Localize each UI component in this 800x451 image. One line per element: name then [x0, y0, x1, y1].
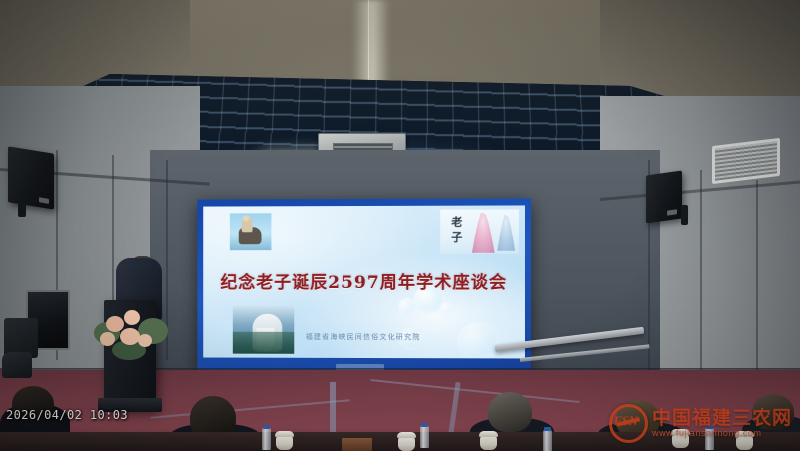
- water-bottle-cap-3: [544, 427, 551, 431]
- slide-subtitle: 福建省海峡民间信俗文化研究院: [203, 332, 525, 343]
- flower-bloom-2: [124, 310, 140, 325]
- flower-bloom-1: [106, 316, 124, 332]
- water-bottle-3: [543, 430, 552, 451]
- calligraphy-text: 老子: [449, 215, 464, 245]
- wall-speaker-right: [646, 170, 682, 223]
- slide-image-laozi-riding-ox: [230, 213, 272, 250]
- fsn-logo-icon: FSN: [609, 404, 648, 443]
- teacup-lid-2: [397, 432, 416, 438]
- watermark-texts: 中国福建三农网 www.fujiansannong.com: [652, 409, 792, 438]
- water-bottle-1: [262, 428, 271, 450]
- watermark: FSN 中国福建三农网 www.fujiansannong.com: [609, 404, 792, 443]
- ceiling-soffit-left: [0, 0, 190, 86]
- wall-seam-r2: [700, 170, 702, 375]
- speaker-brand-badge: [39, 197, 49, 204]
- timestamp-overlay: 2026/04/02 10:03: [6, 408, 128, 422]
- wall-speaker-left: [8, 146, 54, 209]
- wall-seam-r3: [756, 180, 758, 380]
- laozi-head-shape: [243, 215, 250, 221]
- flower-bloom-5: [138, 334, 152, 347]
- slide-bubble-2: [398, 298, 416, 316]
- water-bottle-2: [420, 426, 429, 448]
- water-bottle-cap-2: [421, 423, 428, 427]
- speaker-bracket-right: [681, 205, 688, 225]
- figure-pink-robe: [470, 213, 495, 253]
- watermark-site-url: www.fujiansannong.com: [652, 429, 792, 438]
- slide-image-calligraphy-panel: 老子: [440, 209, 519, 253]
- teacup-1: [276, 436, 293, 450]
- speaker-brand-badge-right: [667, 209, 677, 215]
- slide-bubble-3: [440, 302, 453, 315]
- podium-flower-arrangement: [92, 304, 172, 362]
- figure-blue-robe: [496, 215, 516, 251]
- fsn-logo-text: FSN: [612, 407, 639, 434]
- camera-operator-hand: [2, 352, 32, 378]
- flower-bloom-4: [100, 332, 115, 346]
- projection-screen: 老子 纪念老子诞辰2597周年学术座谈会 福建省海峡民间信俗文化研究院: [197, 198, 531, 375]
- ceiling-hanging-wire: [368, 0, 369, 82]
- audience-head-2: [488, 392, 532, 432]
- teacup-lid-1: [275, 431, 294, 437]
- teacup-lid-3: [479, 431, 498, 437]
- slide-main-title: 纪念老子诞辰2597周年学术座谈会: [203, 268, 525, 293]
- teacup-2: [398, 437, 415, 451]
- table-nameplate: [342, 438, 372, 451]
- flower-bloom-3: [120, 328, 140, 345]
- conference-hall-photo: 老子 纪念老子诞辰2597周年学术座谈会 福建省海峡民间信俗文化研究院: [0, 0, 800, 451]
- slide-canvas: 老子 纪念老子诞辰2597周年学术座谈会 福建省海峡民间信俗文化研究院: [203, 205, 525, 358]
- slide-image-laojun-rock: [233, 306, 294, 354]
- teacup-3: [480, 436, 497, 450]
- water-bottle-cap-1: [263, 425, 270, 429]
- speaker-bracket-left: [18, 203, 26, 217]
- watermark-site-name: 中国福建三农网: [652, 409, 792, 429]
